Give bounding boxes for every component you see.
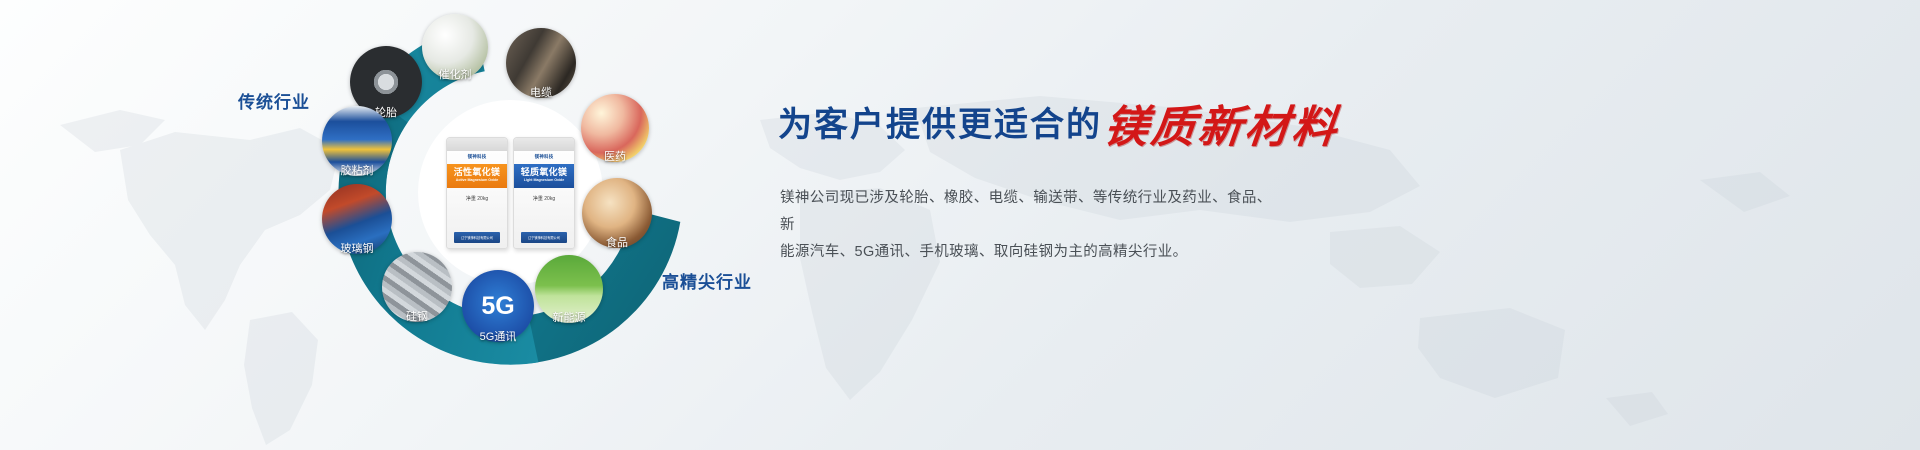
body-line-2: 能源汽车、5G通讯、手机玻璃、取向硅钢为主的高精尖行业。 xyxy=(780,239,1280,266)
node-adhesive[interactable]: 胶粘剂 xyxy=(322,106,392,176)
bag-band-left: 活性氧化镁 Active Magnesium Oxide xyxy=(447,164,507,188)
industry-circle-diagram: 镁神科技 活性氧化镁 Active Magnesium Oxide 净重 20k… xyxy=(300,0,780,450)
node-5g[interactable]: 5G 5G通讯 xyxy=(462,270,534,342)
bag-top-seam xyxy=(514,138,574,151)
bag-brand-left: 镁神科技 xyxy=(468,154,487,160)
label-hightech-industry: 高精尖行业 xyxy=(662,268,752,293)
bag-net-weight-right: 净重 20kg xyxy=(533,195,555,202)
banner-headline: 为客户提供更适合的 镁质新材料 xyxy=(778,108,1339,142)
bag-footer-right: 辽宁镁神科技有限公司 xyxy=(521,232,567,243)
bag-band-right: 轻质氧化镁 Light Magnesium Oxide xyxy=(514,164,574,188)
node-silicon-steel[interactable]: 硅钢 xyxy=(382,252,452,322)
bag-footer-left: 辽宁镁神科技有限公司 xyxy=(454,232,500,243)
node-new-energy[interactable]: 新能源 xyxy=(535,255,603,323)
node-food[interactable]: 食品 xyxy=(582,178,652,248)
node-fiberglass[interactable]: 玻璃钢 xyxy=(322,184,392,254)
bag-top-seam xyxy=(447,138,507,151)
bag-brand-right: 镁神科技 xyxy=(535,154,554,160)
node-cable[interactable]: 电缆 xyxy=(506,28,576,98)
node-silicon-steel-label: 硅钢 xyxy=(406,308,428,324)
bag-name-en-left: Active Magnesium Oxide xyxy=(447,179,507,183)
node-fiberglass-label: 玻璃钢 xyxy=(341,240,374,256)
headline-blue-text: 为客户提供更适合的 xyxy=(778,108,1102,142)
node-catalyst-label: 催化剂 xyxy=(439,66,472,82)
label-traditional-industry: 传统行业 xyxy=(238,88,310,113)
banner-body-copy: 镁神公司现已涉及轮胎、橡胶、电缆、输送带、等传统行业及药业、食品、新 能源汽车、… xyxy=(780,185,1280,266)
bag-net-weight-left: 净重 20kg xyxy=(466,195,488,202)
bag-name-cn-right: 轻质氧化镁 xyxy=(514,168,574,177)
product-bag-active-mgo: 镁神科技 活性氧化镁 Active Magnesium Oxide 净重 20k… xyxy=(446,137,508,249)
bag-name-cn-left: 活性氧化镁 xyxy=(447,168,507,177)
node-catalyst[interactable]: 催化剂 xyxy=(422,14,488,80)
node-cable-label: 电缆 xyxy=(530,84,552,100)
node-5g-label: 5G通讯 xyxy=(480,328,517,344)
node-new-energy-label: 新能源 xyxy=(553,309,586,325)
banner-text-block: 为客户提供更适合的 镁质新材料 镁神公司现已涉及轮胎、橡胶、电缆、输送带、等传统… xyxy=(778,0,1878,450)
bag-name-en-right: Light Magnesium Oxide xyxy=(514,179,574,183)
product-bag-light-mgo: 镁神科技 轻质氧化镁 Light Magnesium Oxide 净重 20kg… xyxy=(513,137,575,249)
node-medicine-label: 医药 xyxy=(604,148,626,164)
node-adhesive-label: 胶粘剂 xyxy=(341,162,374,178)
headline-red-text: 镁质新材料 xyxy=(1102,109,1341,148)
node-medicine[interactable]: 医药 xyxy=(581,94,649,162)
node-food-label: 食品 xyxy=(606,234,628,250)
body-line-1: 镁神公司现已涉及轮胎、橡胶、电缆、输送带、等传统行业及药业、食品、新 xyxy=(780,185,1280,239)
